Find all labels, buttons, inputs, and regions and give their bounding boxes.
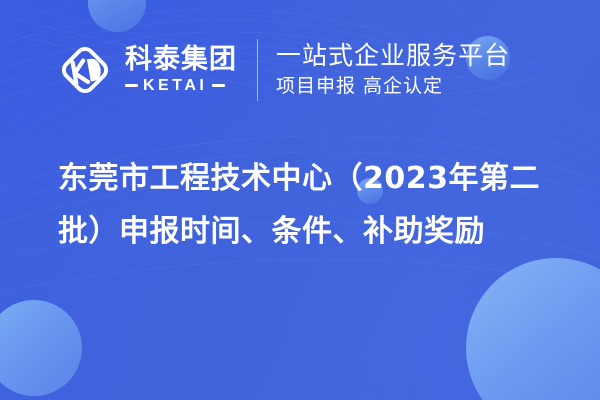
brand-logo[interactable]: 科泰集团 KETAI	[57, 42, 237, 98]
dash-left-icon	[125, 84, 138, 87]
slogan-block: 一站式企业服务平台 项目申报 高企认定	[276, 42, 510, 99]
brand-name-cn: 科泰集团	[125, 46, 237, 74]
header-divider	[257, 39, 258, 101]
dash-right-icon	[212, 84, 225, 87]
slogan-main: 一站式企业服务平台	[276, 42, 510, 70]
promo-banner: 科泰集团 KETAI 一站式企业服务平台 项目申报 高企认定 东莞市工程技术中心…	[0, 0, 600, 400]
ketai-diamond-monogram-icon	[57, 42, 113, 98]
page-title: 东莞市工程技术中心（2023年第二批）申报时间、条件、补助奖励	[58, 152, 558, 258]
slogan-sub: 项目申报 高企认定	[276, 75, 510, 99]
brand-name-en: KETAI	[143, 78, 207, 94]
brand-wordmark: 科泰集团 KETAI	[125, 46, 237, 93]
banner-header: 科泰集团 KETAI 一站式企业服务平台 项目申报 高企认定	[0, 0, 600, 140]
brand-name-en-row: KETAI	[125, 78, 237, 94]
